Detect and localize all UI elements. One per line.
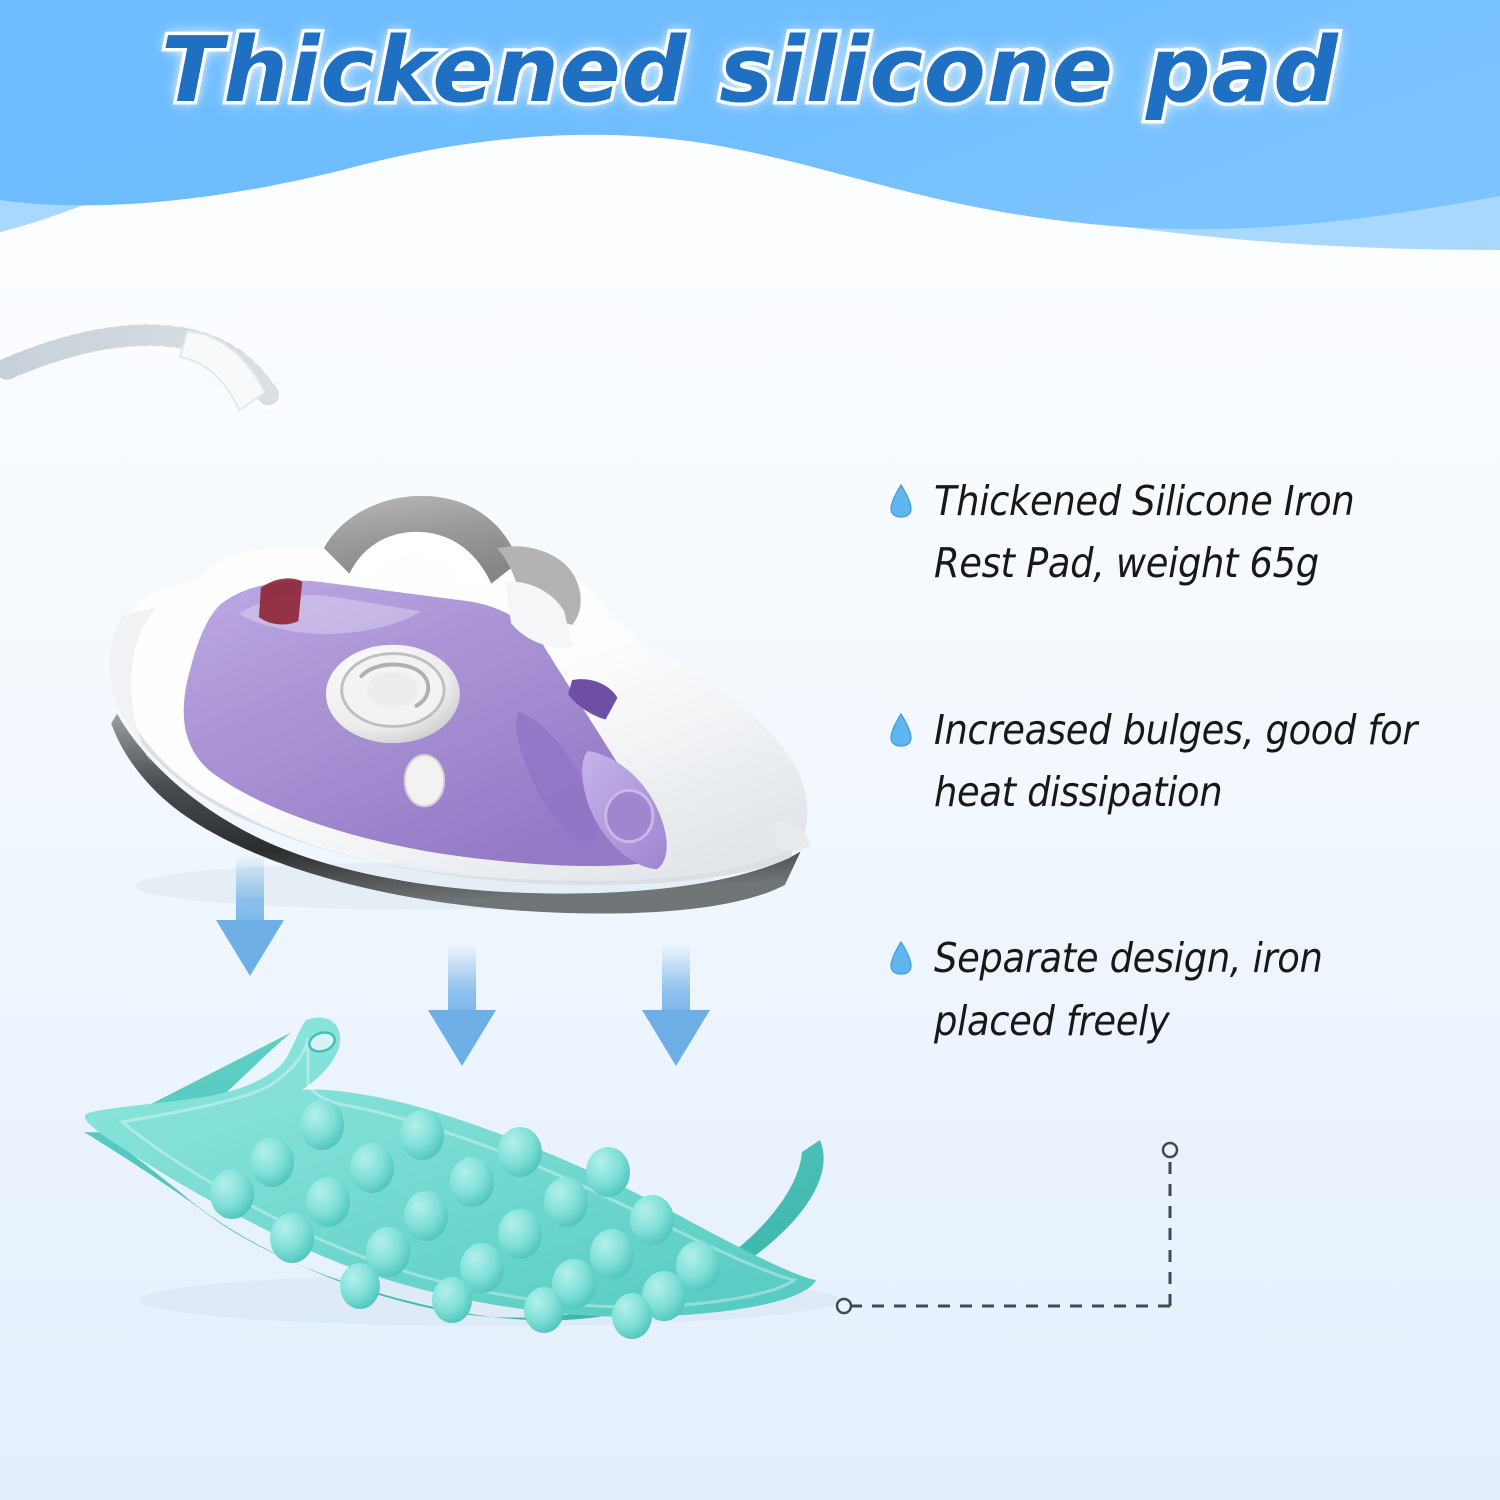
feature-text: Separate design, iron placed freely [934,927,1434,1052]
page-title-outline: Thickened silicone pad [0,18,1500,123]
header-banner: Thickened silicone pad Thickened silicon… [0,0,1500,250]
product-infographic: Thickened silicone pad Thickened silicon… [0,0,1500,1500]
iron-droplet-icon [890,713,912,747]
cord-boot [180,332,265,411]
iron-droplet-icon [890,941,912,975]
iron-spray-button [405,755,444,806]
feature-list: Thickened Silicone Iron Rest Pad, weight… [890,470,1490,1156]
iron-indicator-light [259,578,302,624]
iron-droplet-icon [890,484,912,518]
iron-product-image [0,300,900,950]
iron-temperature-dial [326,645,460,743]
list-item: Thickened Silicone Iron Rest Pad, weight… [890,470,1490,595]
list-item: Increased bulges, good for heat dissipat… [890,699,1490,824]
feature-text: Thickened Silicone Iron Rest Pad, weight… [934,470,1434,595]
feature-text: Increased bulges, good for heat dissipat… [934,699,1434,824]
silicone-pad-image [60,980,910,1340]
iron-steam-dial [606,790,653,841]
list-item: Separate design, iron placed freely [890,927,1490,1052]
